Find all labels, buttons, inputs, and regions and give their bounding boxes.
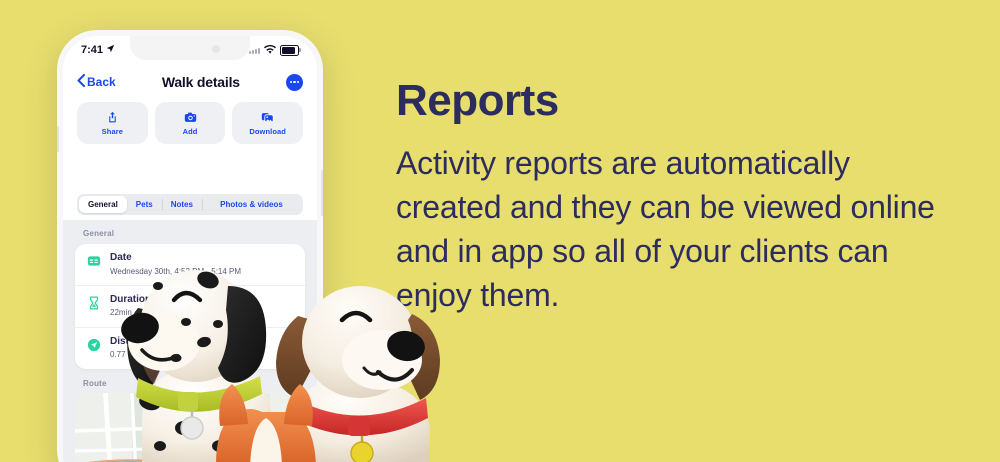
list-item-title: Distance <box>110 336 152 349</box>
section-label-route: Route <box>63 369 317 393</box>
more-options-icon[interactable] <box>286 74 303 91</box>
page-title: Walk details <box>162 74 240 90</box>
status-bar-right <box>249 41 299 59</box>
general-card: Date Wednesday 30th, 4:52 PM - 5:14 PM <box>75 244 305 369</box>
camera-icon <box>184 111 197 124</box>
phone-volume-button <box>57 126 59 152</box>
list-item-value: Wednesday 30th, 4:52 PM - 5:14 PM <box>110 267 241 277</box>
add-button-label: Add <box>183 127 198 136</box>
back-button-label: Back <box>87 75 116 89</box>
status-time: 7:41 <box>81 44 103 56</box>
phone-screen: 7:41 <box>63 36 317 462</box>
phone-power-button <box>321 170 323 216</box>
list-item-title: Date <box>110 252 241 265</box>
heading: Reports <box>396 78 941 124</box>
content-area: General Da <box>63 220 317 462</box>
body-text: Activity reports are automatically creat… <box>396 142 941 317</box>
download-button[interactable]: Download <box>232 102 303 144</box>
tab-general[interactable]: General <box>79 196 127 213</box>
map-preview <box>75 393 305 462</box>
wifi-icon <box>264 41 276 59</box>
list-item-date[interactable]: Date Wednesday 30th, 4:52 PM - 5:14 PM <box>75 244 305 286</box>
list-item-distance[interactable]: Distance 0.77 <box>75 328 305 369</box>
share-icon <box>106 111 119 124</box>
navigation-bar: Back Walk details <box>63 64 317 100</box>
navigation-icon <box>87 338 101 352</box>
add-button[interactable]: Add <box>155 102 226 144</box>
list-item-value: 0.77 <box>110 350 152 360</box>
tab-photos-videos[interactable]: Photos & videos <box>202 196 301 213</box>
route-map-preview[interactable] <box>75 393 305 462</box>
cellular-signal-icon <box>249 46 260 54</box>
action-buttons: Share Add <box>63 102 317 144</box>
share-button[interactable]: Share <box>77 102 148 144</box>
hourglass-icon <box>87 296 101 310</box>
promo-banner: 7:41 <box>0 0 1000 462</box>
photos-download-icon <box>261 111 274 124</box>
back-button[interactable]: Back <box>77 74 116 90</box>
download-button-label: Download <box>249 127 286 136</box>
tab-bar: General Pets Notes Photos & videos <box>77 194 303 215</box>
list-item-value: 22min <box>110 308 151 318</box>
list-item-title: Duration <box>110 294 151 307</box>
copy-block: Reports Activity reports are automatical… <box>396 78 941 318</box>
share-button-label: Share <box>102 127 123 136</box>
chevron-left-icon <box>77 74 85 90</box>
calendar-icon <box>87 254 101 268</box>
location-arrow-icon <box>106 44 115 56</box>
status-bar: 7:41 <box>63 36 317 64</box>
list-item-duration[interactable]: Duration 22min <box>75 286 305 328</box>
tab-notes[interactable]: Notes <box>162 196 202 213</box>
tab-pets[interactable]: Pets <box>127 196 162 213</box>
status-bar-left: 7:41 <box>81 44 115 56</box>
phone-mockup: 7:41 <box>57 30 323 462</box>
battery-icon <box>280 45 299 56</box>
section-label-general: General <box>63 220 317 244</box>
